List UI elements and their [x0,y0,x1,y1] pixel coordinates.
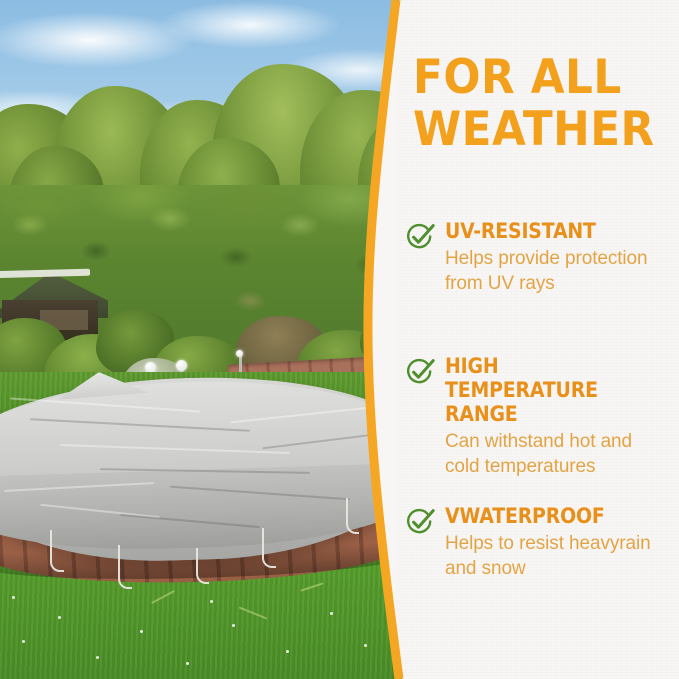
check-circle-icon [404,221,436,253]
feature-title: UV-RESISTANT [445,219,653,243]
headline-line-1: FOR ALL [413,50,622,105]
panel-content: FOR ALL WEATHER UV-RESISTANT Helps provi… [0,0,679,679]
feature-item: UV-RESISTANT Helps provide protection fr… [404,219,676,296]
check-circle-icon [404,506,436,538]
page-title: FOR ALL WEATHER [413,52,657,156]
feature-item: HIGH TEMPERATURE RANGE Can withstand hot… [404,354,676,479]
feature-title: HIGH TEMPERATURE RANGE [445,354,653,426]
feature-description: Helps provide protection from UV rays [445,246,676,296]
feature-description: Helps to resist heavyrain and snow [445,531,676,581]
feature-title: VWATERPROOF [445,504,653,528]
feature-item: VWATERPROOF Helps to resist heavyrain an… [404,504,676,581]
product-feature-graphic: FOR ALL WEATHER UV-RESISTANT Helps provi… [0,0,679,679]
feature-description: Can withstand hot and cold temperatures [445,429,676,479]
headline-line-2: WEATHER [413,104,657,156]
check-circle-icon [404,356,436,388]
